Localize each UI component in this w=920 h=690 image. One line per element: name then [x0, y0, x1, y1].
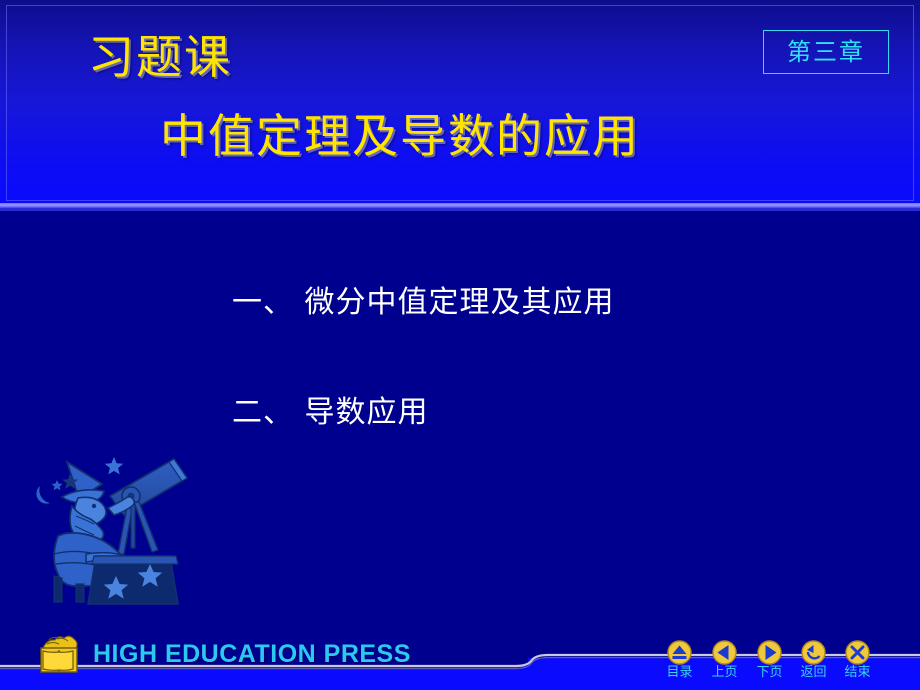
page-title: 习题课: [88, 34, 232, 80]
presentation-slide: 习题课 中值定理及导数的应用 第三章 一、 微分中值定理及其应用 二、 导数应用: [0, 0, 920, 690]
triangle-right-icon[interactable]: [757, 640, 782, 665]
nav-button-contents[interactable]: 目录: [666, 640, 693, 680]
nav-button-prev-page[interactable]: 上页: [711, 640, 738, 680]
chapter-badge: 第三章: [763, 30, 889, 74]
return-arrow-icon[interactable]: [801, 640, 826, 665]
publisher-logo: HIGH EDUCATION PRESS: [33, 632, 411, 676]
nav-button-next-page[interactable]: 下页: [756, 640, 783, 680]
triangle-up-icon[interactable]: [667, 640, 692, 665]
nav-button-next-page-label[interactable]: 下页: [756, 666, 783, 680]
nav-button-return[interactable]: 返回: [800, 640, 827, 680]
nav-button-prev-page-label[interactable]: 上页: [711, 666, 738, 680]
chapter-badge-label: 第三章: [787, 40, 865, 64]
slide-navigation-bar: 目录 上页 下页 返回: [660, 640, 880, 690]
nav-button-contents-label[interactable]: 目录: [666, 666, 693, 680]
wizard-with-telescope-illustration: [24, 444, 199, 612]
publisher-logo-text: HIGH EDUCATION PRESS: [93, 642, 411, 667]
triangle-left-icon[interactable]: [712, 640, 737, 665]
page-subtitle: 中值定理及导数的应用: [160, 113, 640, 159]
nav-button-return-label[interactable]: 返回: [800, 666, 827, 680]
nav-button-end[interactable]: 结束: [844, 640, 871, 680]
list-item: 一、 微分中值定理及其应用: [232, 288, 615, 318]
open-book-treasure-icon: [33, 632, 85, 676]
nav-button-end-label[interactable]: 结束: [844, 666, 871, 680]
close-x-icon[interactable]: [845, 640, 870, 665]
list-item: 二、 导数应用: [232, 398, 429, 428]
